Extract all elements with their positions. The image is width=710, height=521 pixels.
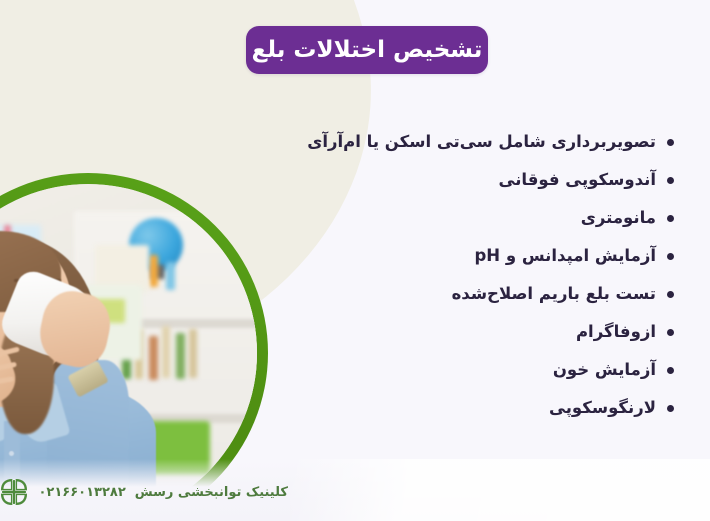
list-item: تست بلع باریم اصلاح‌شده	[244, 275, 674, 313]
list-item: آندوسکوپی فوقانی	[244, 161, 674, 199]
bullet-dot-icon	[667, 253, 674, 260]
list-item-label: آزمایش امپدانس و pH	[474, 248, 656, 265]
photo-book	[149, 255, 158, 287]
list-item-label: تصویربرداری شامل سی‌تی اسکن یا ام‌آرآی	[307, 134, 656, 151]
list-item: تصویربرداری شامل سی‌تی اسکن یا ام‌آرآی	[244, 123, 674, 161]
photo-book	[166, 262, 175, 290]
list-item-label: ازوفاگرام	[576, 324, 656, 341]
list-item: آزمایش امپدانس و pH	[244, 237, 674, 275]
list-item: مانومتری	[244, 199, 674, 237]
list-item: ازوفاگرام	[244, 313, 674, 351]
clover-leaf-icon	[0, 477, 29, 507]
list-item-label: آندوسکوپی فوقانی	[499, 172, 656, 189]
slide-canvas: تشخیص اختلالات بلع تصویربرداری شامل سی‌ت…	[0, 0, 710, 521]
list-item-label: لارنگوسکوپی	[549, 400, 656, 417]
photo-shirt-button	[9, 451, 14, 456]
list-item-label: تست بلع باریم اصلاح‌شده	[452, 286, 656, 303]
clinic-name: کلینیک توانبخشی رسش	[135, 486, 288, 499]
bullet-dot-icon	[667, 291, 674, 298]
list-item-label: مانومتری	[581, 210, 656, 227]
title-badge: تشخیص اختلالات بلع	[246, 26, 488, 74]
footer-sheen	[290, 459, 710, 521]
list-item: آزمایش خون	[244, 351, 674, 389]
photo-book	[189, 329, 197, 378]
list-item: لارنگوسکوپی	[244, 389, 674, 427]
bullet-dot-icon	[667, 405, 674, 412]
bullet-dot-icon	[667, 329, 674, 336]
photo-book	[176, 333, 185, 379]
bullet-dot-icon	[667, 139, 674, 146]
bullet-dot-icon	[667, 177, 674, 184]
bullet-dot-icon	[667, 367, 674, 374]
diagnosis-list: تصویربرداری شامل سی‌تی اسکن یا ام‌آرآی آ…	[244, 123, 674, 427]
clinic-phone: ۰۲۱۶۶۰۱۳۲۸۲	[38, 486, 125, 499]
photo-book	[149, 336, 158, 380]
footer-brand: کلینیک توانبخشی رسش ۰۲۱۶۶۰۱۳۲۸۲	[0, 477, 288, 507]
list-item-label: آزمایش خون	[553, 362, 656, 379]
page-title: تشخیص اختلالات بلع	[252, 39, 483, 62]
bullet-dot-icon	[667, 215, 674, 222]
photo-book	[162, 326, 170, 378]
